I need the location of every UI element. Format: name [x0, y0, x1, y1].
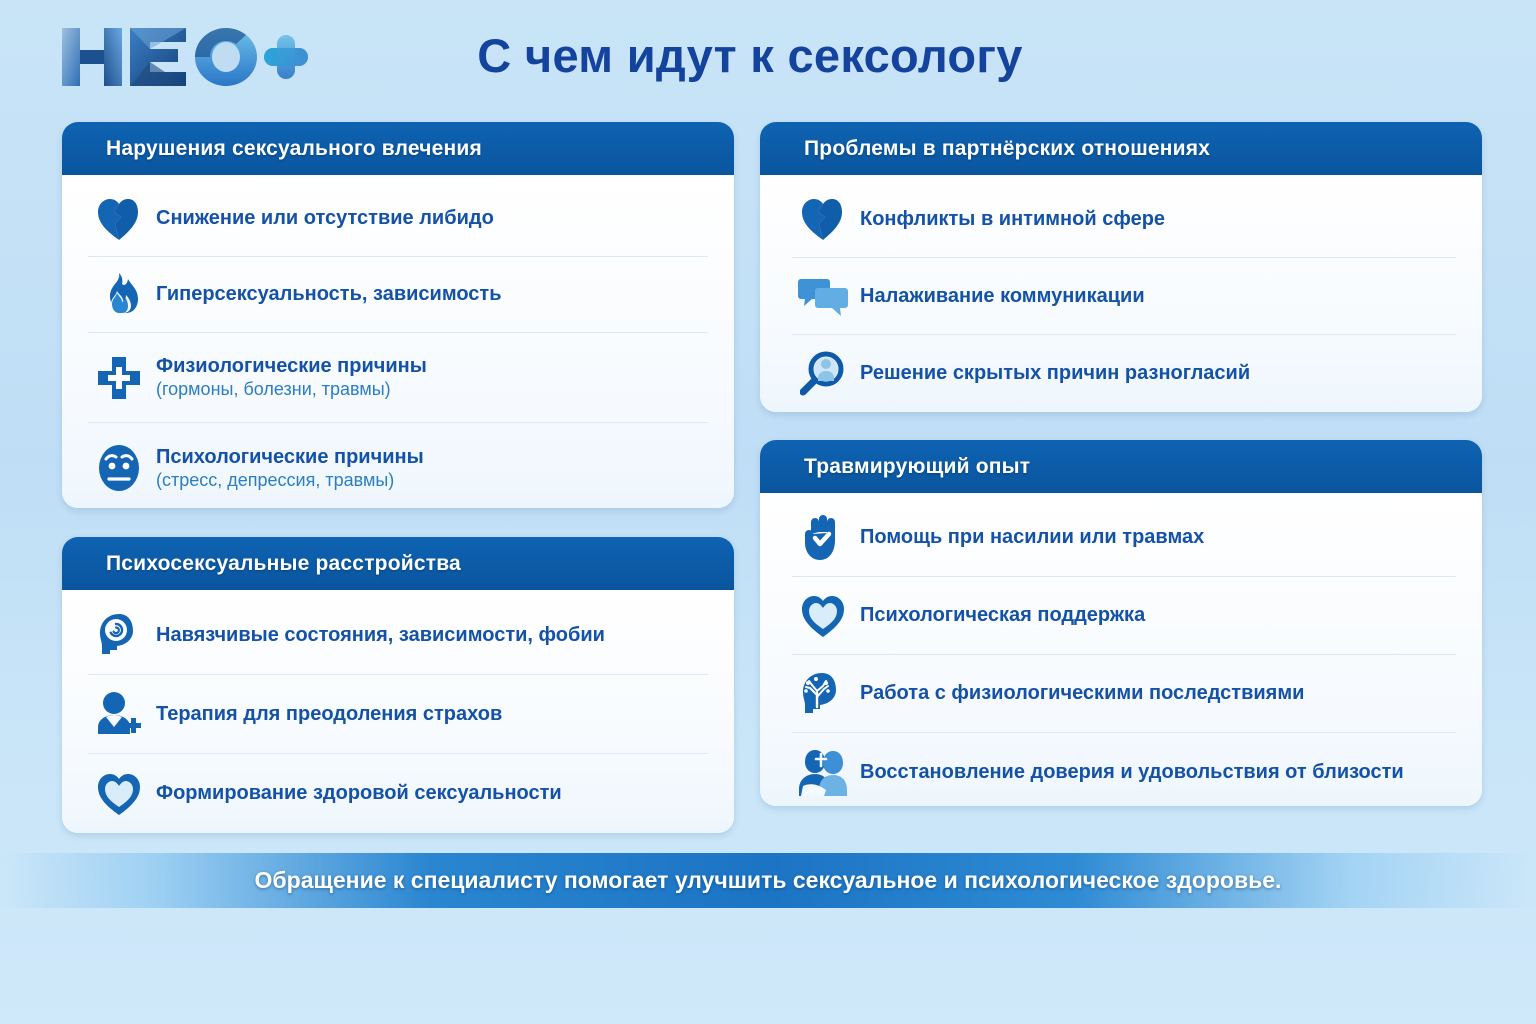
card-psychosexual-disorders: Психосексуальные расстройства Навязчивые… [62, 537, 734, 833]
item-title: Психологическая поддержка [860, 603, 1145, 627]
item-title: Навязчивые состояния, зависимости, фобии [156, 623, 605, 647]
head-spiral-icon [88, 604, 150, 666]
item-text: Терапия для преодоления страхов [156, 702, 502, 726]
card-header: Травмирующий опыт [760, 440, 1482, 493]
footer-banner: Обращение к специалисту помогает улучшит… [0, 853, 1536, 908]
card-traumatic-experience: Травмирующий опыт Помощь при насилии или… [760, 440, 1482, 806]
list-item[interactable]: Навязчивые состояния, зависимости, фобии [88, 596, 708, 675]
card-header: Нарушения сексуального влечения [62, 122, 734, 175]
item-subtitle: (стресс, депрессия, травмы) [156, 469, 424, 492]
list-item[interactable]: Работа с физиологическими последствиями [792, 655, 1456, 733]
head-tree-icon [792, 663, 854, 725]
couple-icon [792, 741, 854, 803]
list-item[interactable]: Налаживание коммуникации [792, 258, 1456, 335]
item-text: Помощь при насилии или травмах [860, 525, 1204, 549]
item-title: Формирование здоровой сексуальности [156, 781, 562, 805]
card-header: Психосексуальные расстройства [62, 537, 734, 590]
list-item[interactable]: Терапия для преодоления страхов [88, 675, 708, 754]
card-desire-disorders: Нарушения сексуального влечения Снижение… [62, 122, 734, 508]
page-header: С чем идут к сексологу [0, 0, 1536, 110]
list-item[interactable]: Психологические причины (стресс, депресс… [88, 423, 708, 508]
item-text: Навязчивые состояния, зависимости, фобии [156, 623, 605, 647]
item-text: Восстановление доверия и удовольствия от… [860, 760, 1404, 784]
magnifier-person-icon [792, 343, 854, 405]
item-text: Физиологические причины (гормоны, болезн… [156, 354, 427, 401]
list-item[interactable]: Решение скрытых причин разногласий [792, 335, 1456, 412]
item-title: Налаживание коммуникации [860, 284, 1145, 308]
card-header-label: Психосексуальные расстройства [106, 552, 461, 576]
open-hand-icon [792, 507, 854, 569]
item-title: Восстановление доверия и удовольствия от… [860, 760, 1404, 784]
list-item[interactable]: Формирование здоровой сексуальности [88, 754, 708, 833]
item-title: Физиологические причины [156, 354, 427, 378]
item-title: Гиперсексуальность, зависимость [156, 282, 502, 306]
item-title: Терапия для преодоления страхов [156, 702, 502, 726]
item-text: Психологические причины (стресс, депресс… [156, 445, 424, 492]
item-text: Психологическая поддержка [860, 603, 1145, 627]
list-item[interactable]: Гиперсексуальность, зависимость [88, 257, 708, 333]
neo-plus-logo [58, 22, 310, 88]
broken-heart-icon [792, 188, 854, 250]
item-text: Налаживание коммуникации [860, 284, 1145, 308]
item-text: Снижение или отсутствие либидо [156, 206, 494, 230]
list-item[interactable]: Помощь при насилии или травмах [792, 499, 1456, 577]
item-text: Решение скрытых причин разногласий [860, 361, 1250, 385]
item-subtitle: (гормоны, болезни, травмы) [156, 378, 427, 401]
list-item[interactable]: Восстановление доверия и удовольствия от… [792, 733, 1456, 806]
card-body: Навязчивые состояния, зависимости, фобии… [62, 590, 734, 833]
item-title: Работа с физиологическими последствиями [860, 681, 1304, 705]
broken-heart-icon [88, 188, 150, 250]
item-title: Снижение или отсутствие либидо [156, 206, 494, 230]
card-header-label: Нарушения сексуального влечения [106, 137, 482, 161]
card-partner-relationship-problems: Проблемы в партнёрских отношениях Конфли… [760, 122, 1482, 412]
item-text: Конфликты в интимной сфере [860, 207, 1165, 231]
item-title: Психологические причины [156, 445, 424, 469]
person-plus-icon [88, 683, 150, 745]
item-text: Гиперсексуальность, зависимость [156, 282, 502, 306]
heart-icon [792, 585, 854, 647]
medical-cross-icon [88, 347, 150, 409]
item-text: Формирование здоровой сексуальности [156, 781, 562, 805]
card-header: Проблемы в партнёрских отношениях [760, 122, 1482, 175]
list-item[interactable]: Психологическая поддержка [792, 577, 1456, 655]
card-body: Конфликты в интимной сфере Налаживание к… [760, 175, 1482, 412]
item-title: Конфликты в интимной сфере [860, 207, 1165, 231]
page-title: С чем идут к сексологу [330, 20, 1170, 90]
card-header-label: Проблемы в партнёрских отношениях [804, 137, 1210, 161]
heart-icon [88, 763, 150, 825]
flame-icon [88, 264, 150, 326]
card-body: Помощь при насилии или травмах Психологи… [760, 493, 1482, 806]
list-item[interactable]: Физиологические причины (гормоны, болезн… [88, 333, 708, 423]
card-body: Снижение или отсутствие либидо Гиперсекс… [62, 175, 734, 508]
item-title: Помощь при насилии или травмах [860, 525, 1204, 549]
item-text: Работа с физиологическими последствиями [860, 681, 1304, 705]
footer-text: Обращение к специалисту помогает улучшит… [255, 867, 1282, 894]
list-item[interactable]: Снижение или отсутствие либидо [88, 181, 708, 257]
item-title: Решение скрытых причин разногласий [860, 361, 1250, 385]
sad-face-icon [88, 437, 150, 499]
card-header-label: Травмирующий опыт [804, 455, 1030, 479]
speech-bubbles-icon [792, 265, 854, 327]
list-item[interactable]: Конфликты в интимной сфере [792, 181, 1456, 258]
